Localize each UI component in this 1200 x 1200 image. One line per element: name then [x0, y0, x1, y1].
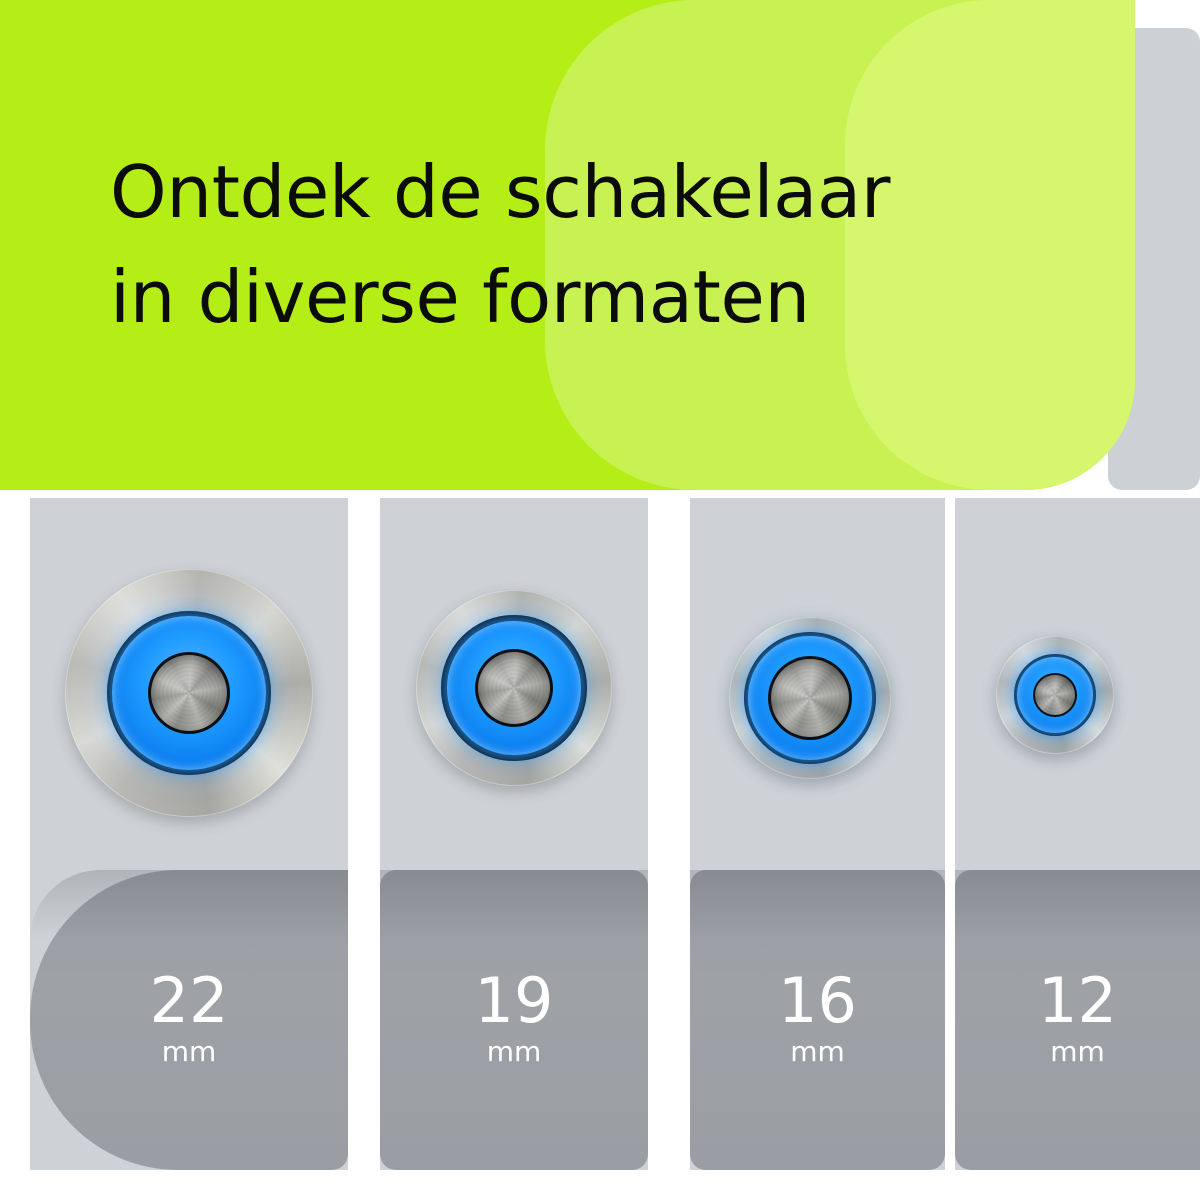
size-unit: mm	[487, 1035, 542, 1069]
size-value: 22	[150, 972, 229, 1031]
switch-graphic-22mm	[65, 569, 313, 817]
size-card-19mm[interactable]: 19 mm	[380, 498, 648, 1170]
switch-graphic-16mm	[729, 617, 891, 779]
size-unit: mm	[1050, 1035, 1105, 1069]
page-title: Ontdek de schakelaar in diverse formaten	[110, 140, 1030, 350]
size-label-16mm: 16 mm	[690, 870, 945, 1170]
size-label-22mm: 22 mm	[30, 870, 348, 1170]
switch-center-dome-icon	[1035, 675, 1075, 715]
size-unit: mm	[790, 1035, 845, 1069]
size-card-22mm[interactable]: 22 mm	[30, 498, 348, 1170]
size-card-12mm[interactable]: 12 mm	[955, 498, 1200, 1170]
switch-center-dome-icon	[478, 652, 551, 725]
switch-graphic-19mm	[416, 590, 612, 786]
size-unit: mm	[162, 1035, 217, 1069]
promo-banner: Ontdek de schakelaar in diverse formaten…	[0, 0, 1200, 1200]
size-value: 12	[1038, 972, 1117, 1031]
size-variant-row: 22 mm 19 mm	[0, 498, 1200, 1178]
size-label-19mm: 19 mm	[380, 870, 648, 1170]
switch-graphic-12mm	[996, 636, 1114, 754]
hero-banner: Ontdek de schakelaar in diverse formaten	[0, 0, 1135, 490]
size-value: 19	[475, 972, 554, 1031]
size-card-16mm[interactable]: 16 mm	[690, 498, 945, 1170]
switch-center-dome-icon	[771, 659, 849, 737]
size-value: 16	[778, 972, 857, 1031]
size-label-12mm: 12 mm	[955, 870, 1200, 1170]
